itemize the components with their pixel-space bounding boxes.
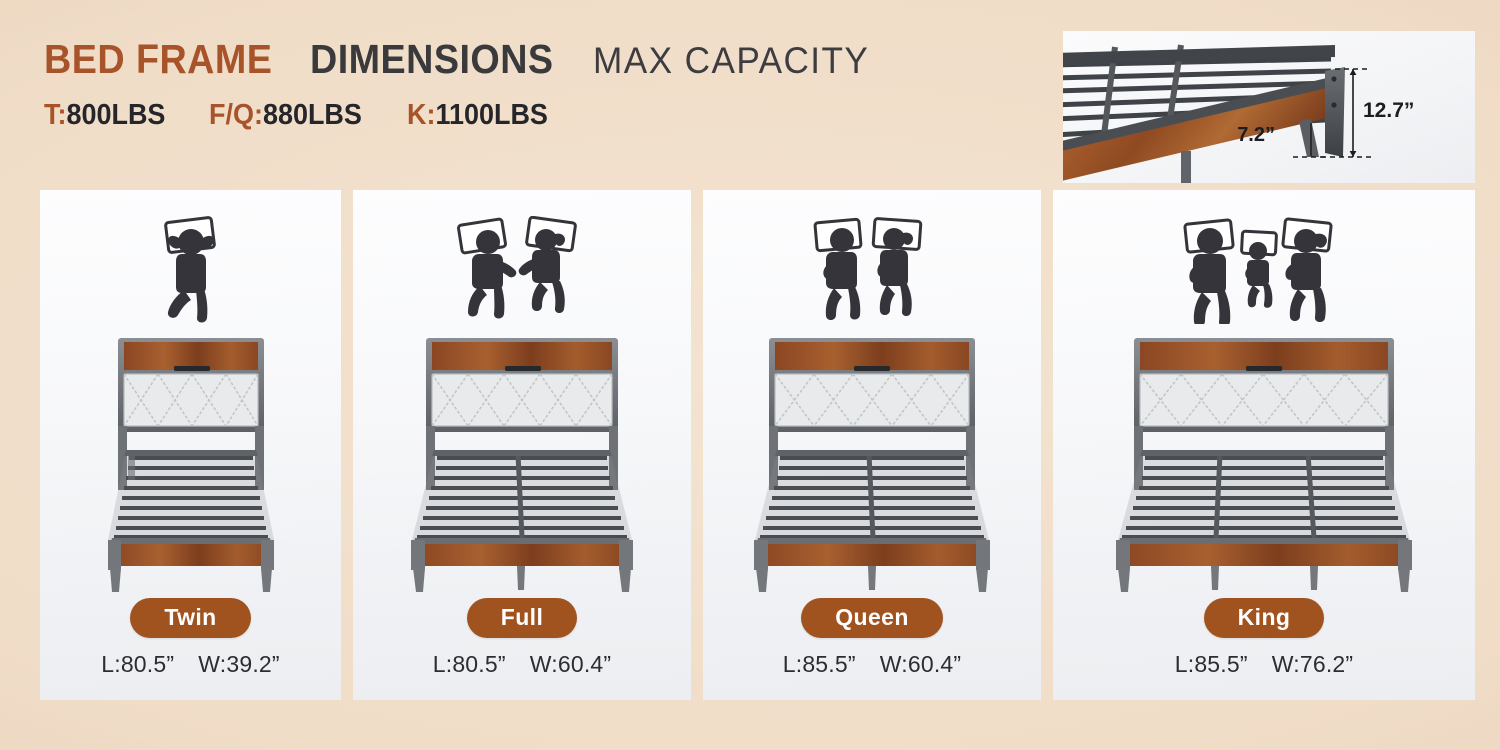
bed-width-twin: W:39.2”	[198, 651, 280, 678]
title-brand: BED FRAME	[44, 36, 272, 83]
bed-length-queen: L:85.5”	[783, 651, 856, 678]
capacity-twin-value: 800LBS	[66, 99, 165, 131]
one-person-sleeping-icon	[40, 216, 341, 324]
clearance-label: 7.2”	[1237, 124, 1275, 146]
bed-dimensions-king: L:85.5” W:76.2”	[1053, 651, 1475, 678]
bed-size-pill-king[interactable]: King	[1204, 598, 1325, 638]
bed-label-wrap-king: King	[1053, 598, 1475, 638]
capacity-full-queen-key: F/Q:	[209, 99, 263, 131]
frame-corner-illustration: 12.7” 7.2”	[1063, 31, 1475, 183]
bed-card-queen[interactable]: Queen L:85.5” W:60.4”	[703, 190, 1041, 700]
capacity-list: T:800LBS F/Q:880LBS K:1100LBS	[44, 99, 1044, 132]
bed-card-twin[interactable]: Twin L:80.5” W:39.2”	[40, 190, 341, 700]
bed-length-twin: L:80.5”	[101, 651, 174, 678]
bed-label-wrap-twin: Twin	[40, 598, 341, 638]
capacity-king: K:1100LBS	[407, 99, 548, 132]
bed-size-pill-full[interactable]: Full	[467, 598, 577, 638]
bed-card-king[interactable]: King L:85.5” W:76.2”	[1053, 190, 1475, 700]
header: BED FRAME DIMENSIONS MAX CAPACITY T:800L…	[44, 36, 1044, 132]
far-leg	[1181, 151, 1191, 183]
bolt-icon	[1331, 102, 1336, 107]
inner-leg	[1299, 119, 1319, 157]
bolt-icon	[1331, 76, 1336, 81]
capacity-twin-key: T:	[44, 99, 66, 131]
bed-width-king: W:76.2”	[1272, 651, 1354, 678]
bed-width-queen: W:60.4”	[880, 651, 962, 678]
bed-illustration-king	[1053, 330, 1475, 595]
bed-card-full[interactable]: Full L:80.5” W:60.4”	[353, 190, 691, 700]
family-three-sleeping-icon	[1053, 216, 1475, 324]
capacity-full-queen: F/Q:880LBS	[209, 99, 362, 132]
frame-height-inset-photo: 12.7” 7.2”	[1063, 31, 1475, 183]
bed-size-pill-twin[interactable]: Twin	[130, 598, 250, 638]
capacity-twin: T:800LBS	[44, 99, 165, 132]
title-dimensions: DIMENSIONS	[310, 36, 554, 83]
bed-illustration-twin	[40, 330, 341, 595]
bed-label-wrap-full: Full	[353, 598, 691, 638]
two-people-sleeping-icon	[353, 216, 691, 324]
capacity-king-key: K:	[407, 99, 435, 131]
bed-size-pill-queen[interactable]: Queen	[801, 598, 943, 638]
two-people-sleeping-icon	[703, 216, 1041, 324]
bed-dimensions-full: L:80.5” W:60.4”	[353, 651, 691, 678]
capacity-full-queen-value: 880LBS	[263, 99, 362, 131]
bed-dimensions-queen: L:85.5” W:60.4”	[703, 651, 1041, 678]
bed-label-wrap-queen: Queen	[703, 598, 1041, 638]
bed-width-full: W:60.4”	[530, 651, 612, 678]
page-title: BED FRAME DIMENSIONS MAX CAPACITY	[44, 36, 1044, 83]
bed-length-full: L:80.5”	[433, 651, 506, 678]
bed-length-king: L:85.5”	[1175, 651, 1248, 678]
total-height-label: 12.7”	[1363, 99, 1414, 122]
capacity-king-value: 1100LBS	[435, 99, 547, 131]
bed-illustration-queen	[703, 330, 1041, 595]
bed-illustration-full	[353, 330, 691, 595]
bed-dimensions-twin: L:80.5” W:39.2”	[40, 651, 341, 678]
title-max-capacity: MAX CAPACITY	[593, 40, 869, 82]
